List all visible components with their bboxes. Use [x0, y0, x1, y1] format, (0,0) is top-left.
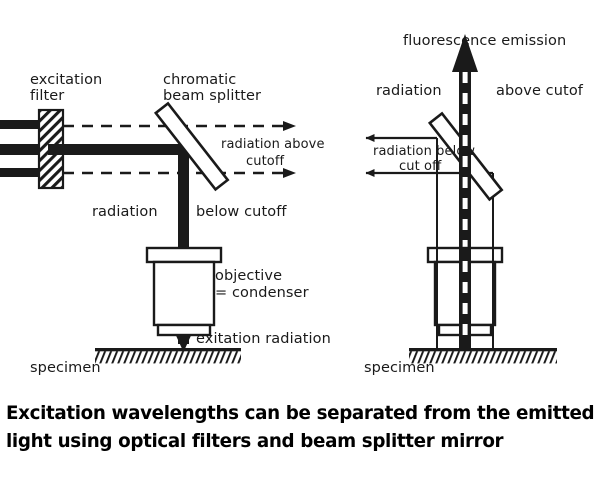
label-radiation-above-cutoff-line2: cutoff — [246, 154, 285, 169]
label-radiation-above-cutoff-line1: radiation above — [221, 137, 325, 152]
specimen-surface-left — [95, 348, 241, 363]
caption-line-2: light using optical filters and beam spl… — [6, 428, 598, 456]
figure-caption: Excitation wavelengths can be separated … — [6, 400, 598, 456]
label-radiation-above-cutoff-right-part1: radiation — [376, 83, 442, 99]
figure-canvas: excitation filter chromatic beam splitte… — [0, 0, 600, 480]
label-excitation-radiation: exitation radiation — [196, 331, 331, 347]
objective-condenser-left — [147, 248, 221, 335]
label-specimen-left: specimen — [30, 360, 101, 376]
left-diagram: excitation filter chromatic beam splitte… — [0, 72, 331, 376]
label-radiation-below-cutoff-right-line1: radiation below — [373, 144, 475, 159]
label-radiation-below-cutoff-right-line2: cut off — [399, 159, 442, 174]
label-fluorescence-emission: fluorescence emission — [403, 33, 566, 49]
label-objective-line2: = condenser — [215, 285, 309, 301]
label-objective-line1: objective — [215, 268, 282, 284]
emission-beam-through-objective — [459, 248, 471, 350]
label-radiation-below-cutoff-part1: radiation — [92, 204, 158, 220]
right-diagram: fluorescence emission radiation above cu… — [364, 33, 584, 376]
label-excitation-filter-line2: filter — [30, 88, 64, 104]
caption-line-1: Excitation wavelengths can be separated … — [6, 400, 598, 428]
label-radiation-above-cutoff-right-part2: above cutof — [496, 83, 584, 99]
label-specimen-right: specimen — [364, 360, 435, 376]
label-beam-splitter-line1: chromatic — [163, 72, 236, 88]
label-excitation-filter-line1: excitation — [30, 72, 102, 88]
optical-path-diagram: excitation filter chromatic beam splitte… — [0, 0, 600, 400]
label-beam-splitter-line2: beam splitter — [163, 88, 261, 104]
label-radiation-below-cutoff-part2: below cutoff — [196, 204, 287, 220]
